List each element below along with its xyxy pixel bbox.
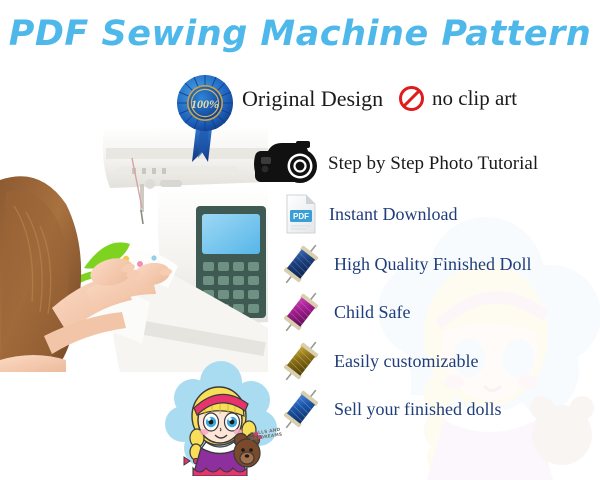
feature-high-quality: High Quality Finished Doll xyxy=(278,243,532,285)
badge-percent-label: 100% xyxy=(191,97,219,111)
feature-child-safe: Child Safe xyxy=(278,291,411,333)
feature-no-clip-art: no clip art xyxy=(398,85,517,112)
easily-customizable-label: Easily customizable xyxy=(334,351,478,372)
feature-photo-tutorial: Step by Step Photo Tutorial xyxy=(252,140,538,188)
page-title: PDF Sewing Machine Pattern xyxy=(0,14,600,54)
child-safe-label: Child Safe xyxy=(334,302,411,323)
feature-sell-finished-dolls: Sell your finished dolls xyxy=(278,388,502,430)
photo-tutorial-label: Step by Step Photo Tutorial xyxy=(328,153,538,175)
original-design-label: Original Design xyxy=(242,86,383,112)
sell-finished-dolls-label: Sell your finished dolls xyxy=(334,399,502,420)
thread-spool-icon xyxy=(278,291,324,333)
instant-download-label: Instant Download xyxy=(329,204,457,225)
no-clip-art-label: no clip art xyxy=(432,86,517,111)
sewing-pattern-poster: PDF Sewing Machine Pattern xyxy=(0,0,600,480)
high-quality-label: High Quality Finished Doll xyxy=(334,254,532,275)
doll-with-teddy-bear-logo xyxy=(163,358,281,476)
thread-spool-icon xyxy=(278,340,324,382)
camera-icon xyxy=(252,140,320,188)
prohibition-sign-icon xyxy=(398,85,425,112)
feature-easily-customizable: Easily customizable xyxy=(278,340,478,382)
rosette-badge-icon: 100% xyxy=(176,72,236,164)
thread-spool-icon xyxy=(278,243,324,285)
pdf-document-icon: PDF xyxy=(283,193,319,235)
thread-spool-icon xyxy=(278,388,324,430)
pdf-badge-label: PDF xyxy=(293,212,309,221)
feature-instant-download: PDF Instant Download xyxy=(283,193,457,235)
